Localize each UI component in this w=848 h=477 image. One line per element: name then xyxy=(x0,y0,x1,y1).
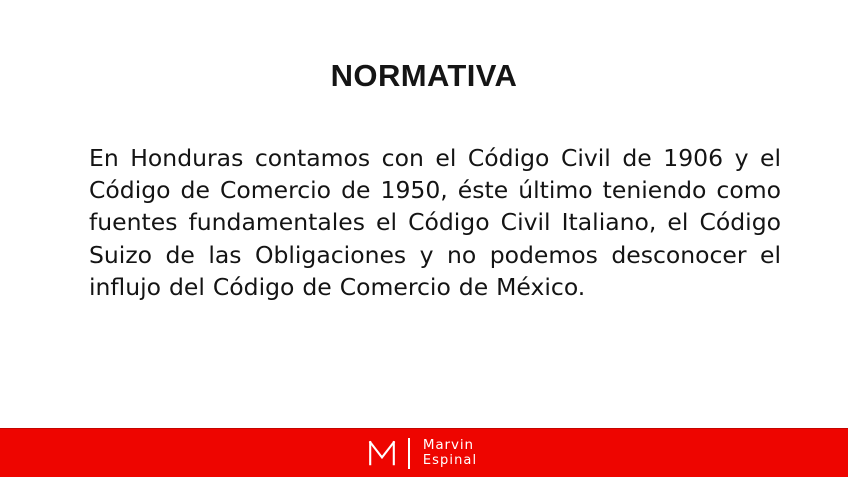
brand-logo: Marvin Espinal xyxy=(367,437,477,469)
logo-name-first: Marvin xyxy=(423,437,477,453)
footer-bar: Marvin Espinal xyxy=(0,428,848,477)
m-monogram-icon xyxy=(367,438,397,468)
logo-divider xyxy=(408,438,410,469)
slide-body-text: En Honduras contamos con el Código Civil… xyxy=(89,142,781,303)
logo-wordmark: Marvin Espinal xyxy=(423,437,477,469)
logo-name-last: Espinal xyxy=(423,453,477,469)
slide-body-block: En Honduras contamos con el Código Civil… xyxy=(89,142,781,303)
presentation-slide: NORMATIVA En Honduras contamos con el Có… xyxy=(0,0,848,477)
page-title: NORMATIVA xyxy=(0,58,848,94)
